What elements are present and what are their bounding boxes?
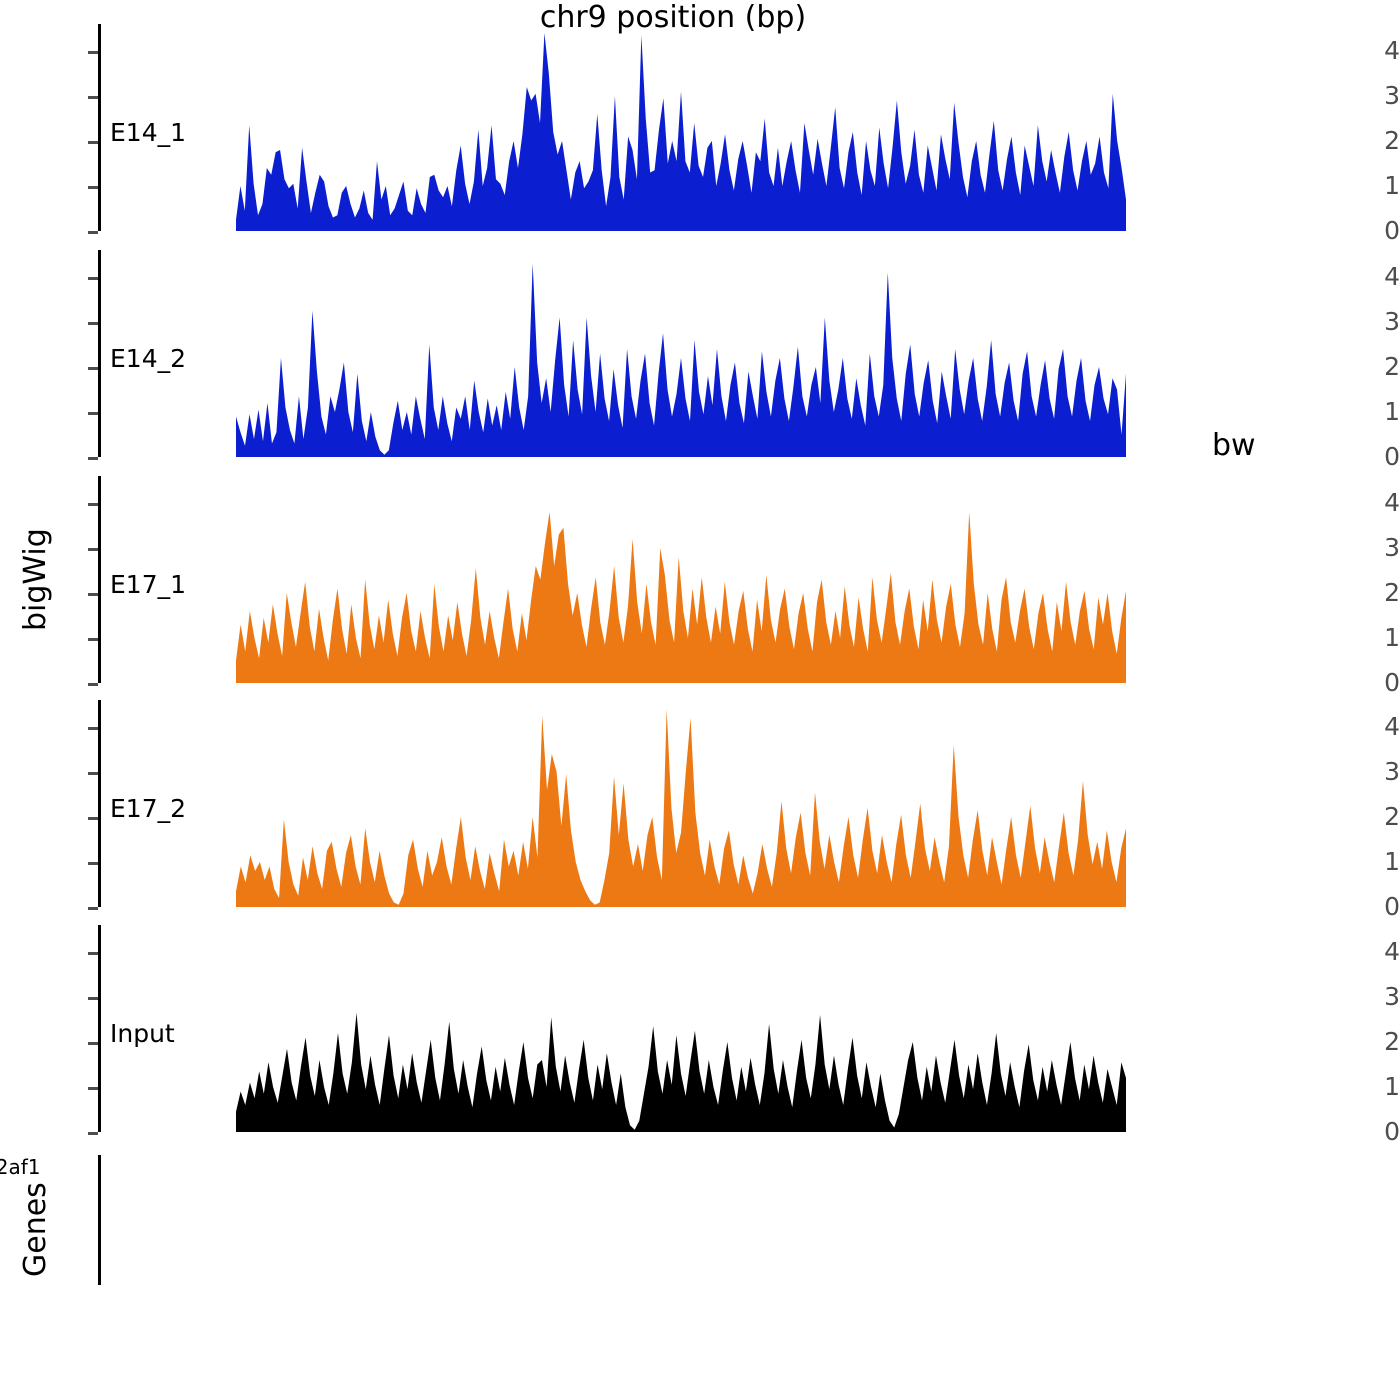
gene-model (0, 1155, 300, 1305)
track-panel-input: 01234Input (0, 925, 1400, 1132)
genes-panel: Pou2af1 (0, 1155, 1400, 1285)
legend-title: bw (1212, 428, 1256, 463)
signal-area-e17_1 (0, 476, 1400, 685)
signal-area-e17_2 (0, 700, 1400, 909)
x-axis-title: chr9 position (bp) (196, 0, 1150, 35)
legend: bw (1210, 428, 1256, 479)
signal-area-e14_1 (0, 24, 1400, 233)
signal-area-e14_2 (0, 250, 1400, 459)
track-panel-e17_1: 01234E17_1 (0, 476, 1400, 683)
track-panel-e14_1: 01234E14_1 (0, 24, 1400, 231)
signal-area-input (0, 925, 1400, 1134)
track-panel-e14_2: 01234E14_2 (0, 250, 1400, 457)
track-panel-e17_2: 01234E17_2 (0, 700, 1400, 907)
